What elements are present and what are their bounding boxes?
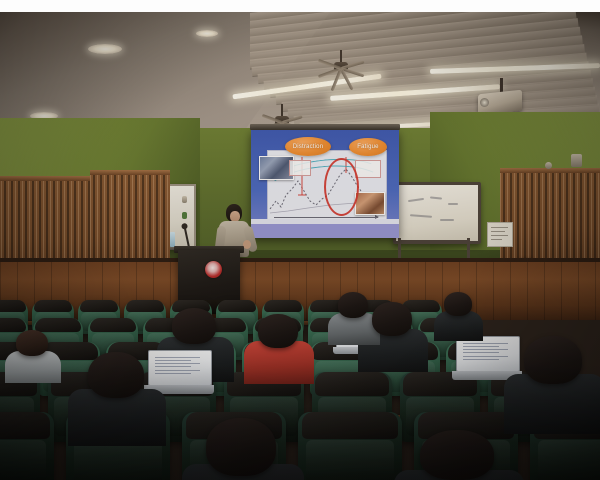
audience-member-head [258, 314, 298, 348]
wall-sensor-icon [545, 162, 552, 169]
ceiling-downlight [196, 30, 218, 37]
seat-headrest [218, 300, 257, 312]
projector-lens [480, 98, 489, 107]
audience-member-head [420, 430, 494, 480]
seat-sheen [538, 440, 600, 480]
seat-sheen [306, 440, 393, 480]
water-bottle [170, 232, 175, 247]
wall-switch-icon[interactable] [182, 196, 187, 203]
ceiling-downlight [88, 44, 122, 54]
slide-red-highlight-ellipse [324, 158, 359, 216]
seat-headrest [315, 372, 389, 396]
auditorium-seat [298, 412, 402, 480]
seat-sheen [74, 440, 161, 480]
slide-callout-fatigue: Fatigue [349, 138, 387, 156]
seat-headrest [34, 300, 73, 312]
mobile-whiteboard [393, 182, 481, 244]
seat-headrest [0, 412, 50, 439]
seat-sheen [0, 440, 46, 480]
seat-headrest [0, 318, 26, 332]
lecture-hall-photo: Distraction Fatigue [0, 0, 600, 480]
seat-headrest [0, 300, 26, 312]
presentation-slide: Distraction Fatigue [251, 130, 399, 238]
slide-inset-photo-driver [355, 192, 385, 215]
presenter-hand [243, 240, 251, 249]
projector-icon [478, 78, 524, 114]
seat-headrest [264, 300, 303, 312]
audience-member-head [444, 292, 472, 316]
slide-note-a [289, 160, 311, 176]
slide-note-b [355, 160, 381, 178]
audience-laptop [456, 336, 518, 380]
seat-headrest [302, 412, 398, 439]
projection-screen: Distraction Fatigue [251, 130, 399, 238]
audience-member-head [372, 302, 412, 336]
audience-member-head [524, 336, 582, 384]
laptop-screen [148, 350, 212, 386]
university-crest-logo [205, 261, 222, 278]
audience-laptop [148, 350, 210, 394]
audience-member-head [172, 308, 216, 344]
audience-member-head [338, 292, 368, 318]
wall-speaker-icon [571, 154, 582, 167]
audience-member-head [16, 330, 48, 356]
letterbox-bar-top [0, 0, 600, 12]
audience-member-head [88, 352, 144, 398]
seat-headrest [35, 318, 81, 332]
slide-footer [251, 224, 399, 238]
seat-headrest [80, 300, 119, 312]
wall-notice [487, 222, 513, 247]
slide-chart-time-axis [274, 217, 378, 218]
auditorium-seat [0, 412, 54, 480]
laptop-screen [456, 336, 520, 372]
seat-headrest [126, 300, 165, 312]
wall-indicator-icon [182, 212, 187, 219]
ceiling-fan-icon [318, 50, 364, 96]
audience-member-head [206, 418, 276, 476]
slide-callout-distraction: Distraction [285, 137, 331, 156]
seat-headrest [90, 318, 136, 332]
